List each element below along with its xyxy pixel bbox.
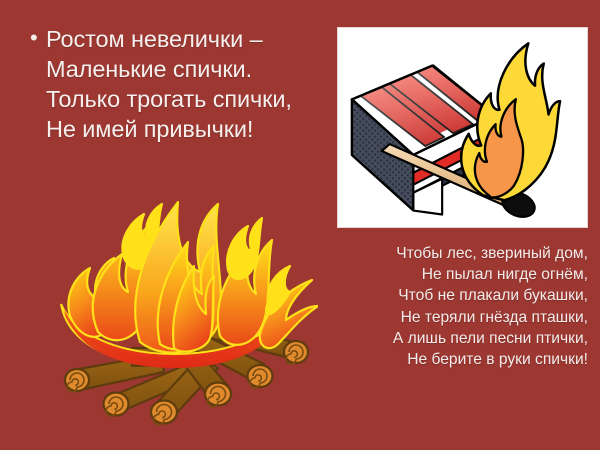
- poem-two-line-3: Чтоб не плакали букашки,: [320, 285, 588, 306]
- poem-one-block: • Ростом невелички – Маленькие спички. Т…: [30, 24, 340, 144]
- burning-match-and-matchbox-illustration-icon: [338, 28, 587, 227]
- poem-two-line-2: Не пылал нигде огнём,: [320, 264, 588, 285]
- poem-one-line-4: Не имей привычки!: [46, 114, 340, 144]
- bullet-point-icon: •: [30, 23, 46, 53]
- matchbox-picture-panel: [337, 27, 588, 228]
- poem-one-line-1: Ростом невелички –: [46, 24, 340, 54]
- campfire-illustration-icon: [28, 158, 318, 438]
- poem-two-line-1: Чтобы лес, звериный дом,: [320, 243, 588, 264]
- poem-one-line-3: Только трогать спички,: [46, 84, 340, 114]
- poem-one-line-2: Маленькие спички.: [46, 54, 340, 84]
- slide-canvas: • Ростом невелички – Маленькие спички. Т…: [0, 0, 600, 450]
- poem-one-lines: Ростом невелички – Маленькие спички. Тол…: [46, 24, 340, 144]
- poem-two-line-6: Не берите в руки спички!: [320, 349, 588, 370]
- campfire-flames: [68, 202, 318, 353]
- poem-two-block: Чтобы лес, звериный дом, Не пылал нигде …: [320, 243, 588, 370]
- poem-two-line-4: Не теряли гнёзда пташки,: [320, 307, 588, 328]
- poem-one-bullet-row: • Ростом невелички – Маленькие спички. Т…: [30, 24, 340, 144]
- poem-two-line-5: А лишь пели песни птички,: [320, 328, 588, 349]
